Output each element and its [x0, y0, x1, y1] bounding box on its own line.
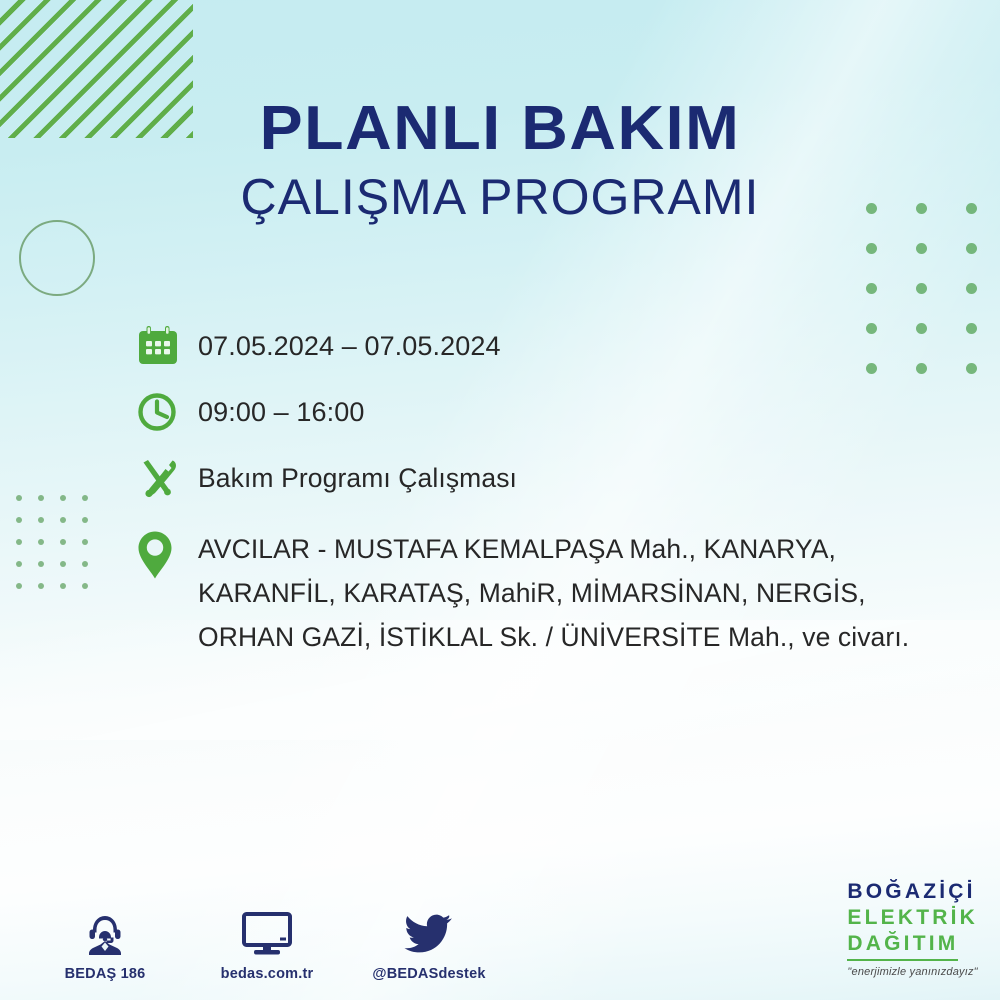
info-row-location: AVCILAR - MUSTAFA KEMALPAŞA Mah., KANARY…	[136, 524, 956, 659]
dot	[60, 583, 66, 589]
dot	[916, 243, 927, 254]
brand-tagline: "enerjimizle yanınızdayız"	[847, 966, 978, 978]
dot	[82, 583, 88, 589]
location-text: AVCILAR - MUSTAFA KEMALPAŞA Mah., KANARY…	[198, 524, 956, 659]
location-pin-icon	[136, 524, 198, 580]
dot	[966, 363, 977, 374]
dot	[60, 539, 66, 545]
dot	[82, 517, 88, 523]
twitter-bird-icon	[370, 909, 488, 957]
dot	[966, 283, 977, 294]
clock-icon	[136, 388, 198, 434]
circle-outline-decoration	[19, 220, 95, 296]
contact-twitter-label: @BEDASdestek	[370, 966, 488, 982]
brand-line-bogazici: BOĞAZİÇİ	[847, 879, 978, 905]
dot	[60, 561, 66, 567]
dot	[16, 517, 22, 523]
dot	[60, 517, 66, 523]
call-center-agent-icon	[46, 909, 164, 957]
dot	[16, 495, 22, 501]
dot	[82, 561, 88, 567]
info-row-time: 09:00 – 16:00	[136, 388, 956, 434]
contact-website[interactable]: bedas.com.tr	[208, 909, 326, 982]
dot	[866, 243, 877, 254]
dot	[38, 517, 44, 523]
brand-line-dagitim: DAĞITIM	[847, 931, 958, 961]
dot	[916, 283, 927, 294]
page-title: PLANLI BAKIM ÇALIŞMA PROGRAMI	[0, 96, 1000, 226]
dot	[82, 495, 88, 501]
dot	[38, 539, 44, 545]
contact-phone[interactable]: BEDAŞ 186	[46, 909, 164, 982]
dot	[866, 283, 877, 294]
dot	[16, 539, 22, 545]
brand-line-elektrik: ELEKTRİK	[847, 905, 978, 931]
dot	[38, 583, 44, 589]
info-row-date: 07.05.2024 – 07.05.2024	[136, 322, 956, 368]
dot	[16, 583, 22, 589]
dot-grid-left-decoration	[16, 495, 104, 605]
dot	[16, 561, 22, 567]
dot	[966, 323, 977, 334]
contact-website-label: bedas.com.tr	[208, 966, 326, 982]
brand-logo: BOĞAZİÇİ ELEKTRİK DAĞITIM "enerjimizle y…	[847, 879, 978, 978]
title-primary: PLANLI BAKIM	[0, 96, 1000, 162]
dot	[60, 495, 66, 501]
dot	[82, 539, 88, 545]
dot	[38, 495, 44, 501]
contact-phone-label: BEDAŞ 186	[46, 966, 164, 982]
dot	[38, 561, 44, 567]
monitor-icon	[208, 909, 326, 957]
info-list: 07.05.2024 – 07.05.2024 09:00 – 16:00	[136, 322, 956, 659]
title-secondary: ÇALIŞMA PROGRAMI	[0, 168, 1000, 226]
dot	[966, 243, 977, 254]
footer-contacts: BEDAŞ 186 bedas.com.tr @BEDASdestek	[46, 909, 488, 982]
contact-twitter[interactable]: @BEDASdestek	[370, 909, 488, 982]
calendar-icon	[136, 322, 198, 368]
tools-icon	[136, 454, 198, 502]
info-row-work-type: Bakım Programı Çalışması	[136, 454, 956, 502]
time-range-text: 09:00 – 16:00	[198, 388, 364, 433]
work-type-text: Bakım Programı Çalışması	[198, 454, 517, 499]
date-range-text: 07.05.2024 – 07.05.2024	[198, 322, 501, 367]
poster-canvas: PLANLI BAKIM ÇALIŞMA PROGRAMI	[0, 0, 1000, 1000]
